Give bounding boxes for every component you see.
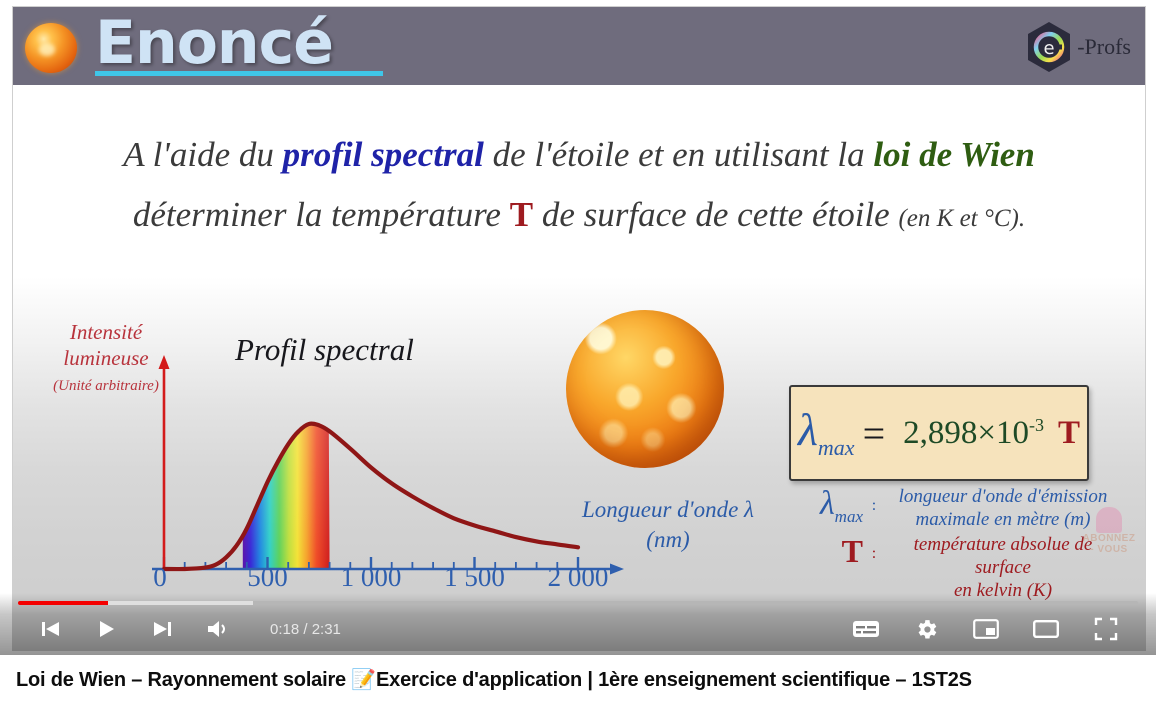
time-display: 0:18 / 2:31 [270,621,341,638]
formula-denominator: T [1058,414,1080,451]
e-profs-logo: e -Profs [1025,23,1131,71]
controls-right-group [852,615,1120,643]
formula-lambda: λ [798,404,818,455]
formula-numerator: 2,898×10-3 [893,415,1054,453]
subtitles-icon[interactable] [852,615,880,643]
youtube-video-page: Enoncé [0,0,1156,701]
formula-numerator-base: 2,898×10 [903,415,1029,451]
statement-parenthetical: (en K et °C). [898,205,1025,232]
statement-keyword-profil-spectral: profil spectral [283,135,484,174]
x-tick-label: 1 000 [341,562,402,593]
video-player[interactable]: Enoncé [0,0,1156,655]
e-profs-hexagon-logo-icon: e [1025,21,1073,73]
video-title: Loi de Wien – Rayonnement solaire 📝Exerc… [16,667,972,692]
logo-label: -Profs [1077,34,1131,60]
formula-fraction: 2,898×10-3 T [893,415,1080,452]
settings-gear-icon[interactable] [912,615,940,643]
bell-icon [1096,507,1122,533]
legend-symbol-lambda: λmax [791,485,863,527]
previous-button[interactable] [36,615,64,643]
formula-equals: = [863,410,886,457]
legend-T-glyph: T [842,533,863,569]
statement-block: A l'aide du profil spectral de l'étoile … [13,125,1145,249]
legend-symbol-temperature: T [791,533,863,570]
x-tick-label: 1 500 [444,562,505,593]
volume-button[interactable] [204,615,232,643]
formula-numerator-exponent: -3 [1029,415,1044,435]
sun-icon [25,23,77,73]
controls-left-group: 0:18 / 2:31 [36,615,341,643]
miniplayer-icon[interactable] [972,615,1000,643]
video-frame: Enoncé [12,6,1146,651]
statement-symbol-T: T [510,195,533,234]
statement-text-1b: de l'étoile et en utilisant la [484,135,874,174]
legend-lambda-glyph: λ [820,485,835,522]
fullscreen-icon[interactable] [1092,615,1120,643]
statement-text-2a: déterminer la température [133,195,510,234]
statement-line-2: déterminer la température T de surface d… [13,185,1145,249]
legend-colon-lambda: : [863,485,885,515]
x-tick-label: 2 000 [548,562,609,593]
page-title: Enoncé [95,9,333,77]
legend-colon-temperature: : [863,533,885,563]
watermark-line-1: ABONNEZ [1071,533,1146,544]
subscribe-watermark: ABONNEZ - VOUS [1071,507,1146,577]
player-controls[interactable]: 0:18 / 2:31 [0,593,1156,655]
next-button[interactable] [148,615,176,643]
slide-header: Enoncé [13,7,1145,85]
theater-mode-icon[interactable] [1032,615,1060,643]
title-underline [95,71,383,76]
progress-played [18,601,108,605]
statement-line-1: A l'aide du profil spectral de l'étoile … [13,125,1145,185]
play-button[interactable] [92,615,120,643]
legend-lambda-line1: longueur d'onde d'émission [885,485,1121,508]
x-tick-label: 500 [247,562,288,593]
statement-text-1a: A l'aide du [123,135,282,174]
star-image [566,310,724,468]
formula-lambda-subscript: max [818,435,855,460]
statement-text-2b: de surface de cette étoile [533,195,898,234]
video-title-bar: Loi de Wien – Rayonnement solaire 📝Exerc… [0,658,1156,701]
svg-text:e: e [1044,38,1055,59]
watermark-line-2: - VOUS [1071,544,1146,555]
formula-lambda-symbol: λmax [798,407,855,459]
statement-keyword-loi-de-wien: loi de Wien [873,135,1034,174]
legend-lambda-subscript: max [835,507,863,526]
progress-bar[interactable] [18,601,1138,605]
wien-law-formula-box: λmax = 2,898×10-3 T [789,385,1089,481]
x-tick-label: 0 [153,562,167,593]
